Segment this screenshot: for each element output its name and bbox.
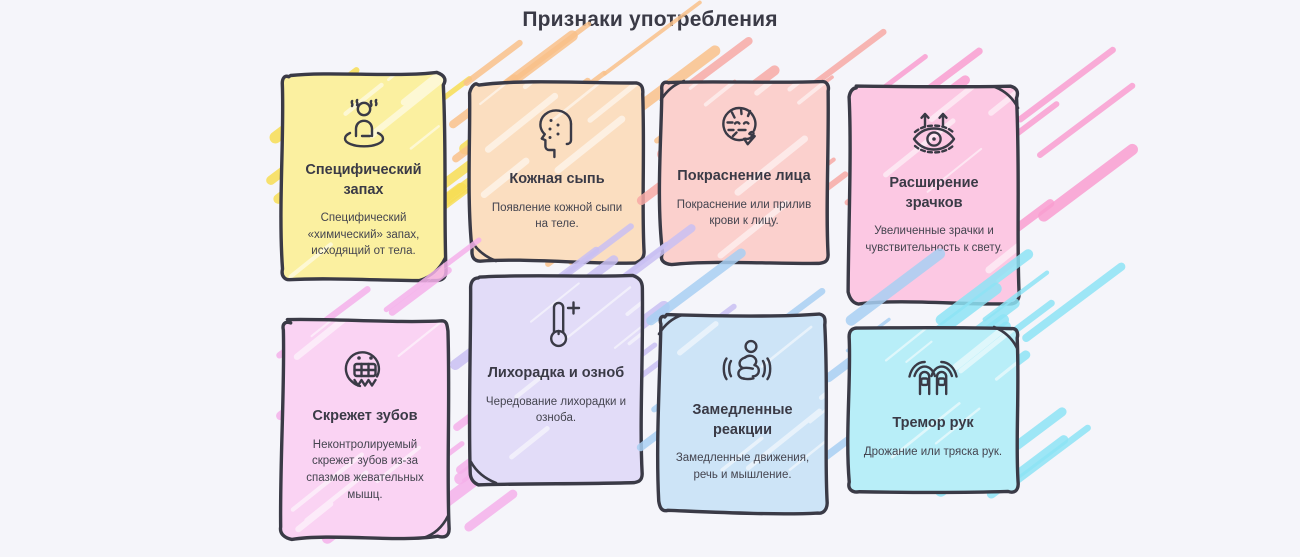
- sign-card-fever-chills[interactable]: Лихорадка и озноб Чередование лихорадки …: [470, 276, 642, 484]
- card-title: Расширение зрачков: [864, 174, 1004, 213]
- slow-runner-icon: [711, 333, 775, 393]
- card-title: Специфический запах: [294, 161, 434, 200]
- card-surface: Лихорадка и озноб Чередование лихорадки …: [470, 276, 642, 484]
- card-description: Дрожание или тряска рук.: [864, 444, 1002, 461]
- card-title: Скрежет зубов: [312, 407, 417, 427]
- signs-card-board: Специфический запах Специфический «химич…: [0, 0, 1300, 546]
- grinding-teeth-icon: [333, 339, 397, 399]
- sign-card-slow-reactions[interactable]: Замедленные реакции Замедленные движения…: [658, 313, 827, 513]
- card-description: Появление кожной сыпи на теле.: [485, 200, 630, 233]
- card-surface: Расширение зрачков Увеличенные зрачки и …: [849, 86, 1019, 304]
- card-surface: Специфический запах Специфический «химич…: [281, 73, 446, 281]
- card-surface: Тремор рук Дрожание или тряска рук.: [848, 326, 1018, 494]
- card-description: Чередование лихорадки и озноба.: [484, 394, 629, 427]
- sign-card-teeth-grinding[interactable]: Скрежет зубов Неконтролируемый скрежет з…: [281, 319, 449, 539]
- card-description: Замедленные движения, речь и мышление.: [670, 450, 815, 483]
- thermometer-plus-icon: [524, 296, 588, 356]
- face-rash-icon: [525, 102, 589, 162]
- card-title: Тремор рук: [892, 414, 973, 434]
- card-description: Специфический «химический» запах, исходя…: [293, 210, 434, 260]
- card-title: Лихорадка и озноб: [488, 364, 625, 384]
- card-title: Покраснение лица: [677, 167, 810, 187]
- card-title: Замедленные реакции: [673, 401, 813, 440]
- card-title: Кожная сыпь: [509, 170, 604, 190]
- smell-person-icon: [332, 93, 396, 153]
- dilated-eye-icon: [902, 106, 966, 166]
- vibrating-hands-icon: [901, 346, 965, 406]
- card-description: Неконтролируемый скрежет зубов из-за спа…: [293, 437, 437, 504]
- card-surface: Замедленные реакции Замедленные движения…: [658, 313, 827, 513]
- sign-card-hand-tremor[interactable]: Тремор рук Дрожание или тряска рук.: [848, 326, 1018, 494]
- sign-card-specific-smell[interactable]: Специфический запах Специфический «химич…: [281, 73, 446, 281]
- card-surface: Скрежет зубов Неконтролируемый скрежет з…: [281, 319, 449, 539]
- sign-card-dilated-pupils[interactable]: Расширение зрачков Увеличенные зрачки и …: [849, 86, 1019, 304]
- flushed-face-icon: [712, 99, 776, 159]
